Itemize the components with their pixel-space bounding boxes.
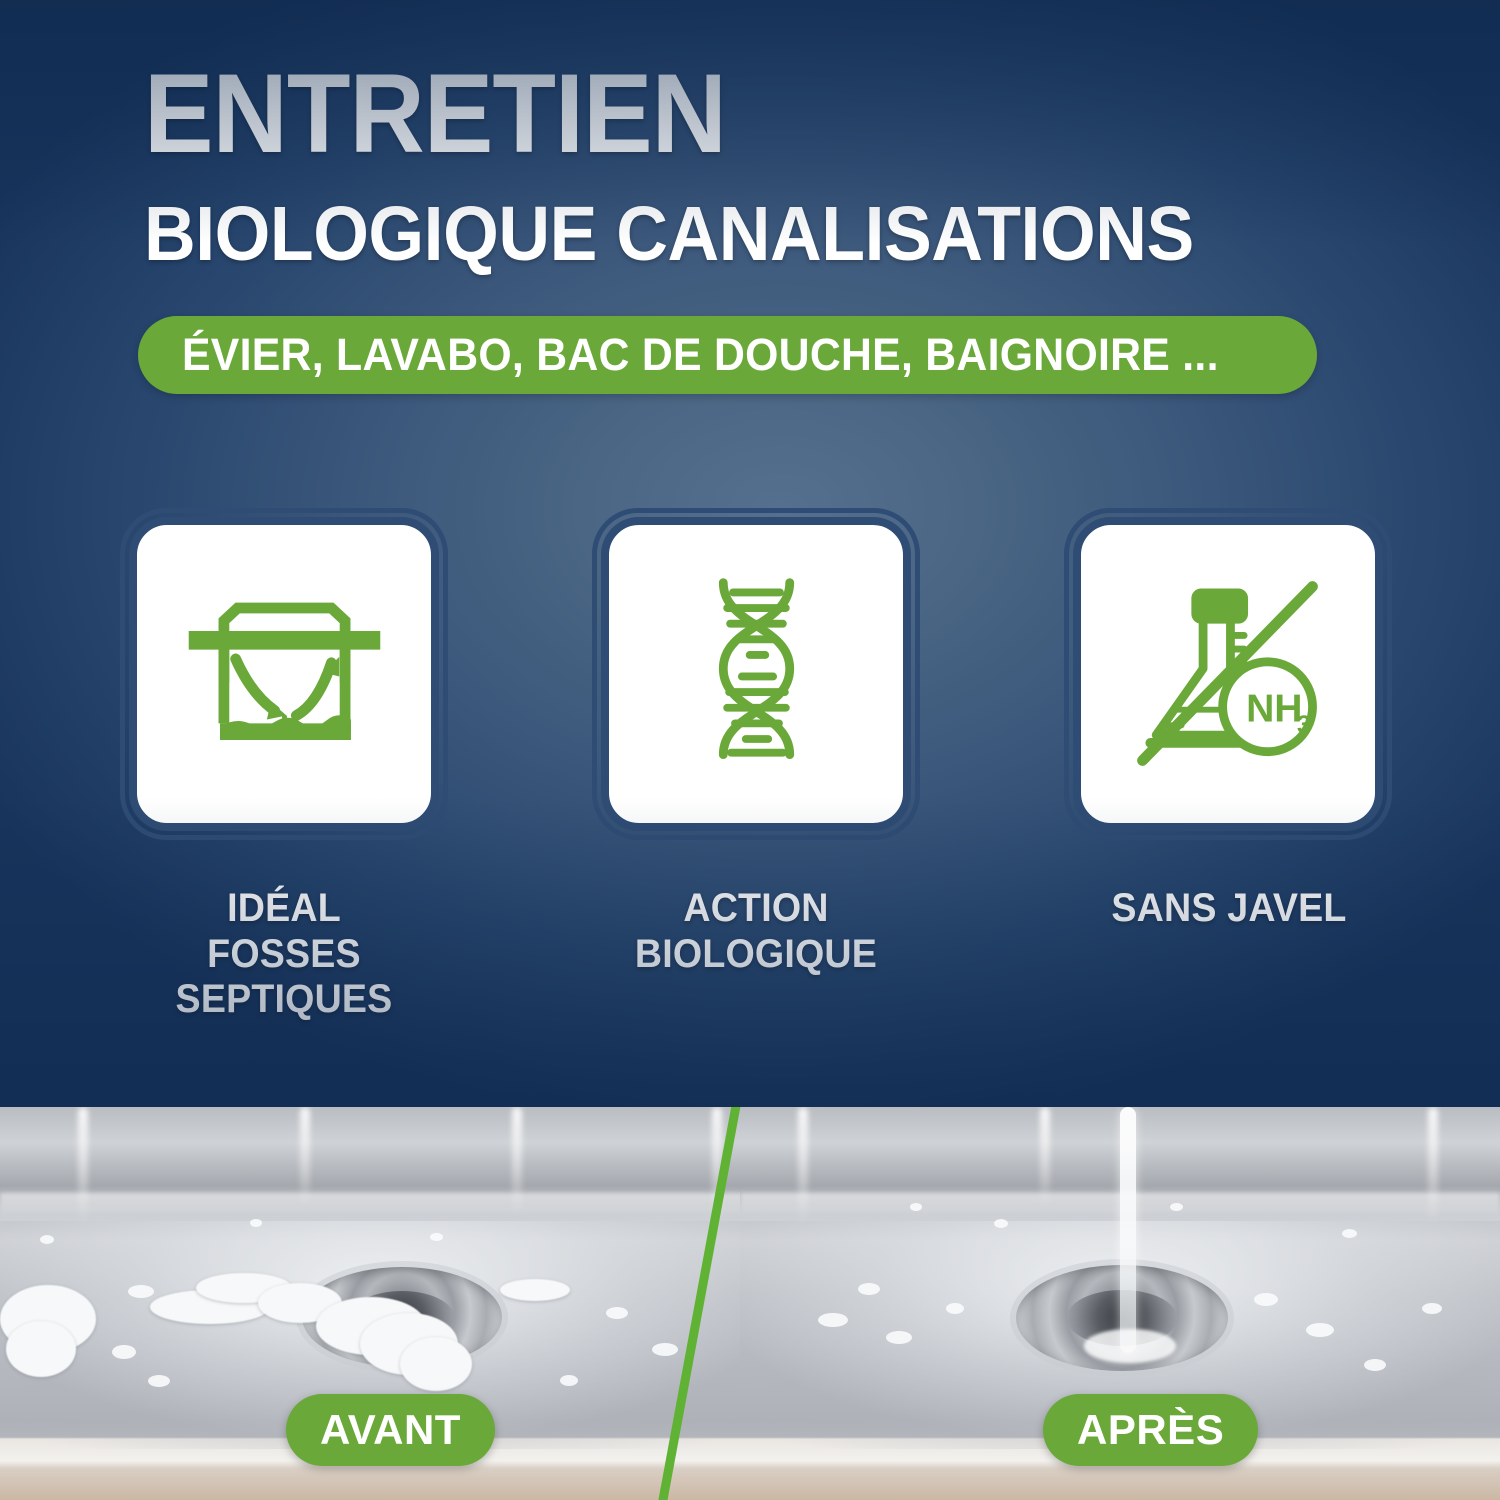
card-inner-frame: [129, 517, 439, 831]
page-title: ENTRETIEN: [144, 58, 726, 170]
feature-caption-septic: IDÉAL FOSSES SEPTIQUES: [120, 886, 448, 1023]
product-infographic: ENTRETIEN BIOLOGIQUE CANALISATIONS ÉVIER…: [0, 0, 1500, 1500]
feature-card-septic: [120, 508, 448, 840]
feature-card-biological: [592, 508, 920, 840]
hero-panel: ENTRETIEN BIOLOGIQUE CANALISATIONS ÉVIER…: [0, 0, 1500, 1107]
caption-line: FOSSES: [130, 932, 438, 978]
caption-line: SANS JAVEL: [1057, 886, 1401, 932]
before-after-photo-band: [0, 1107, 1500, 1500]
nh3-label: NH: [1246, 687, 1302, 730]
caption-line: BIOLOGIQUE: [602, 932, 910, 978]
feature-caption-biological: ACTION BIOLOGIQUE: [592, 886, 920, 977]
feature-card-row: NH 3: [0, 508, 1500, 848]
caption-line: SEPTIQUES: [130, 977, 438, 1023]
soap-foam: [400, 1337, 472, 1391]
water-stream: [1120, 1107, 1136, 1353]
caption-line: IDÉAL: [130, 886, 438, 932]
card-inner-frame: [601, 517, 911, 831]
after-label-text: APRÈS: [1077, 1406, 1224, 1454]
page-subtitle: BIOLOGIQUE CANALISATIONS: [144, 196, 1194, 273]
caption-line: ACTION: [602, 886, 910, 932]
feature-caption-no-bleach: SANS JAVEL: [1046, 886, 1412, 932]
nh3-subscript: 3: [1296, 711, 1310, 739]
application-badge-label: ÉVIER, LAVABO, BAC DE DOUCHE, BAIGNOIRE …: [182, 329, 1219, 381]
after-label-badge: APRÈS: [1043, 1394, 1258, 1466]
no-bleach-flask-icon: NH 3: [1121, 567, 1336, 782]
water-splash: [1084, 1329, 1176, 1363]
card-inner-frame: NH 3: [1073, 517, 1383, 831]
soap-foam: [500, 1279, 570, 1301]
before-label-badge: AVANT: [286, 1394, 495, 1466]
septic-tank-icon: [177, 567, 392, 782]
dna-helix-icon: [649, 567, 864, 782]
flask-cap: [1191, 588, 1248, 623]
before-label-text: AVANT: [320, 1406, 461, 1454]
application-badge: ÉVIER, LAVABO, BAC DE DOUCHE, BAIGNOIRE …: [138, 316, 1317, 394]
feature-card-no-bleach: NH 3: [1064, 508, 1392, 840]
soap-foam: [6, 1321, 76, 1377]
